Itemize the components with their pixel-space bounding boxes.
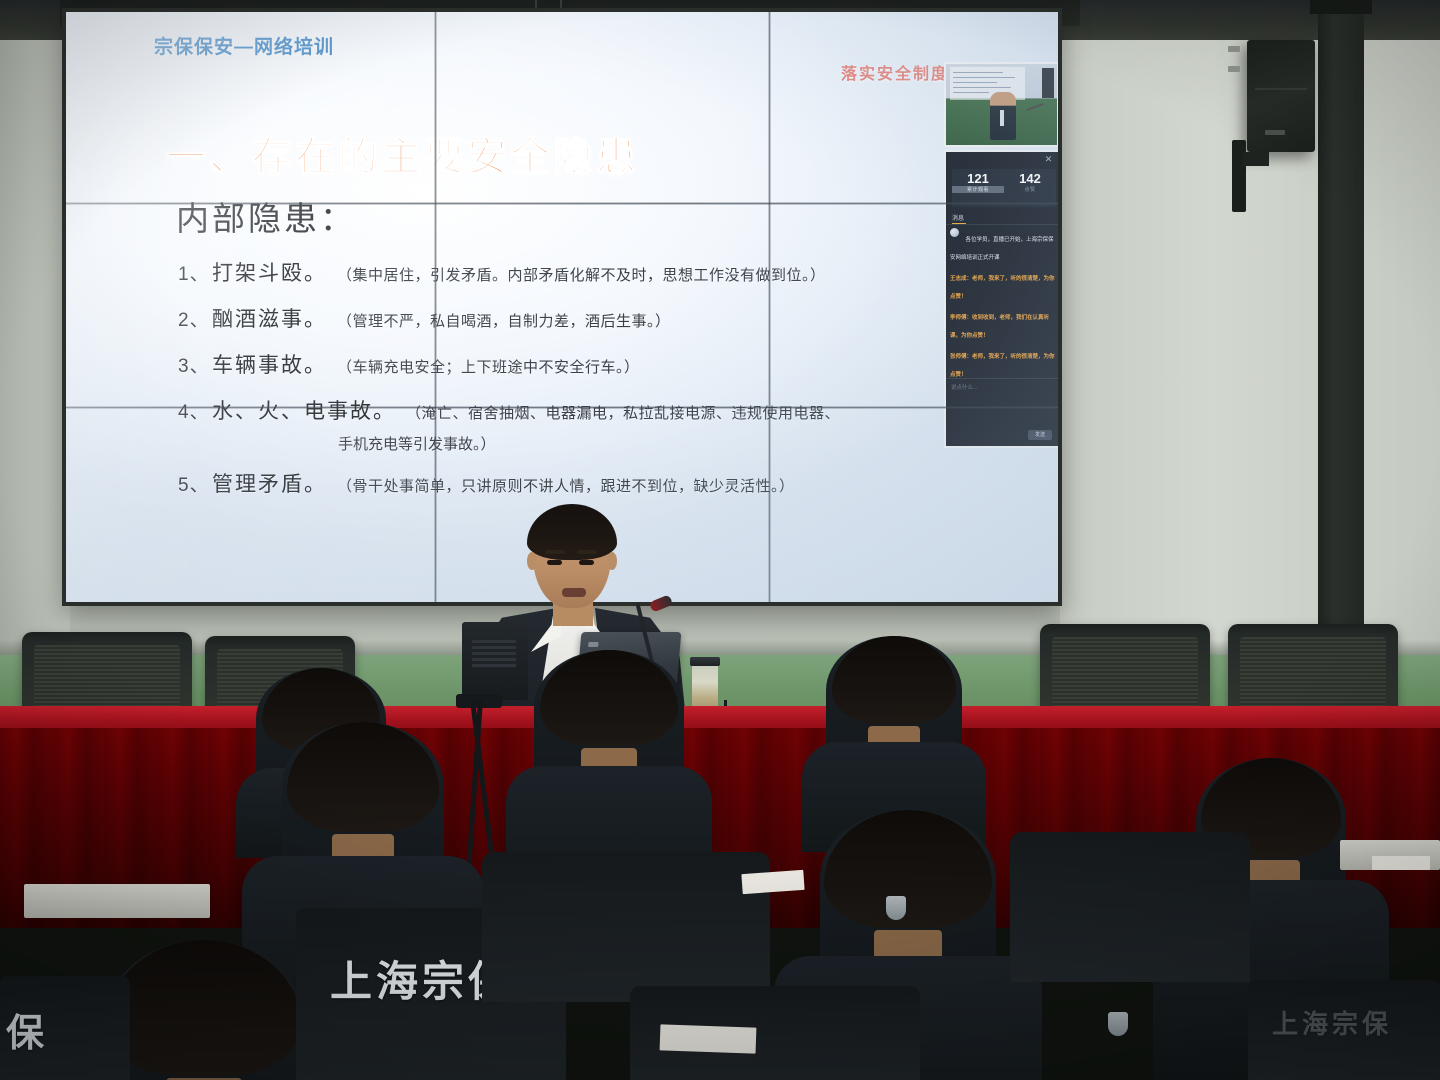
presenter-mouth bbox=[562, 588, 586, 597]
bullet-number: 3、 bbox=[178, 351, 212, 378]
presenter-eye-left bbox=[547, 560, 562, 565]
chair-back-row2-left bbox=[482, 852, 770, 1002]
presenter-ear-right bbox=[607, 552, 617, 570]
chat-message-text: 王志成：老师，我来了，听的很清楚，为你点赞！ bbox=[950, 276, 1055, 300]
remote-microphone-icon bbox=[1026, 103, 1044, 111]
wall-speaker-arm bbox=[1243, 152, 1269, 166]
wall-speaker-icon bbox=[1247, 40, 1315, 152]
list-item: 李师傅：收到收到，老师，我们在认真听课，为你点赞！ bbox=[950, 306, 1056, 342]
audience-member-2 bbox=[826, 636, 962, 796]
presenter-hair bbox=[527, 504, 617, 560]
chat-input-area[interactable]: 说点什么... 发送 bbox=[946, 378, 1058, 446]
audience-member-5 bbox=[282, 722, 444, 912]
chair-right-2 bbox=[1228, 624, 1398, 714]
slide-section-title: 一、存在的主要安全隐患 bbox=[166, 124, 639, 182]
bezel-seam-horizontal-1 bbox=[66, 202, 1058, 205]
bullet-number: 5、 bbox=[178, 470, 212, 497]
paper-sheet-2 bbox=[660, 1024, 757, 1053]
audience-member-6 bbox=[820, 810, 996, 1010]
room-pillar bbox=[1318, 0, 1364, 680]
list-item: 3、 车辆事故。 （车辆充电安全；上下班途中不安全行车。） bbox=[178, 349, 978, 379]
remote-video-feed[interactable] bbox=[944, 62, 1058, 147]
remote-presenter-tie bbox=[1000, 110, 1004, 126]
list-item: 王志成：老师，我来了，听的很清楚，为你点赞！ bbox=[950, 267, 1056, 303]
chat-tabbar[interactable]: 消息 bbox=[946, 212, 1058, 225]
tab-messages[interactable]: 消息 bbox=[952, 213, 964, 222]
bullet-note: （骨干处事简单，只讲原则不讲人情，跟进不到位，缺少灵活性。） bbox=[337, 475, 795, 496]
bezel-seam-horizontal-2 bbox=[66, 406, 1058, 409]
bullet-number: 4、 bbox=[178, 397, 212, 424]
chat-message-list[interactable]: 各位学员，直播已开始，上海宗保保安网络培训正式开课 王志成：老师，我来了，听的很… bbox=[950, 228, 1056, 378]
list-item: 5、 管理矛盾。 （骨干处事简单，只讲原则不讲人情，跟进不到位，缺少灵活性。） bbox=[178, 468, 978, 498]
uniform-shoulder-badge-1 bbox=[886, 896, 906, 920]
list-item: 2、 酗酒滋事。 （管理不严，私自喝酒，自制力差，酒后生事。） bbox=[178, 303, 978, 333]
list-item: 4、 水、火、电事故。 （淹亡、宿舍抽烟、电器漏电，私拉乱接电源、违规使用电器、 bbox=[178, 395, 978, 425]
remote-side-panel bbox=[1042, 68, 1054, 98]
bullet-main: 车辆事故。 bbox=[212, 349, 327, 379]
presenter-brow-right bbox=[577, 550, 597, 554]
presenter-ear-left bbox=[527, 552, 537, 570]
close-icon[interactable]: ✕ bbox=[1044, 155, 1053, 164]
bullet-main: 水、火、电事故。 bbox=[212, 395, 396, 425]
slide-header-title: 宗保保安—网络培训 bbox=[154, 32, 334, 59]
list-item: 张师傅：老师，我来了，听的很清楚，为你点赞！ bbox=[950, 345, 1056, 378]
tea-jar-lid bbox=[690, 657, 720, 666]
wall-speaker-bracket bbox=[1232, 140, 1246, 212]
chair-back-row2-right bbox=[1010, 832, 1250, 982]
wall-speaker-badge bbox=[1265, 130, 1285, 135]
send-button[interactable]: 发送 bbox=[1028, 430, 1052, 440]
chat-input-placeholder[interactable]: 说点什么... bbox=[951, 383, 978, 391]
wall-left-column bbox=[0, 0, 70, 660]
list-item: 1、 打架斗殴。 （集中居住，引发矛盾。内部矛盾化解不及时，思想工作没有做到位。… bbox=[178, 257, 978, 287]
paper-sheet-3 bbox=[1372, 856, 1430, 870]
slide-subtitle: 内部隐患： bbox=[176, 192, 356, 240]
bullet-note: （管理不严，私自喝酒，自制力差，酒后生事。） bbox=[337, 310, 671, 331]
bullet-number: 1、 bbox=[178, 259, 212, 286]
avatar bbox=[950, 228, 959, 237]
desk-surface-left bbox=[24, 884, 210, 918]
chair-right-1 bbox=[1040, 624, 1210, 714]
stat-likes-value: 142 bbox=[1004, 172, 1056, 186]
bullet-main: 管理矛盾。 bbox=[212, 468, 327, 498]
live-chat-panel[interactable]: ✕ 121 累计观看 142 点赞 消息 bbox=[944, 150, 1058, 448]
stat-viewers-label: 累计观看 bbox=[952, 186, 1004, 193]
slide-top-right-label: 落实安全制度 bbox=[841, 60, 949, 84]
chat-message-text: 张师傅：老师，我来了，听的很清楚，为你点赞！ bbox=[950, 354, 1055, 378]
list-item: 各位学员，直播已开始，上海宗保保安网络培训正式开课 bbox=[950, 228, 1056, 264]
chat-message-text: 各位学员，直播已开始，上海宗保保安网络培训正式开课 bbox=[950, 237, 1053, 261]
uniform-shoulder-badge-2 bbox=[1108, 1012, 1128, 1036]
bullet-main: 酗酒滋事。 bbox=[212, 303, 327, 333]
bezel-seam-vertical-2 bbox=[768, 12, 771, 602]
wall-speaker-seam bbox=[1255, 88, 1307, 90]
bullet-main: 打架斗殴。 bbox=[212, 257, 327, 287]
bullet-note: （集中居住，引发矛盾。内部矛盾化解不及时，思想工作没有做到位。） bbox=[337, 264, 826, 285]
presenter-brow-left bbox=[545, 550, 565, 554]
tab-active-indicator bbox=[952, 223, 966, 224]
wall-anchor-upper bbox=[1228, 46, 1240, 52]
audience-member-3 bbox=[534, 650, 684, 820]
stat-viewers-value: 121 bbox=[952, 172, 1004, 186]
photo-scene: 宗保保安—网络培训 落实安全制度 安全生产月活动方案 一、存在的主要安全隐患 内… bbox=[0, 0, 1440, 1080]
monitor-vent bbox=[472, 640, 516, 668]
bullet-number: 2、 bbox=[178, 305, 212, 332]
bezel-seam-vertical-1 bbox=[434, 12, 437, 602]
uniform-back-text-left: 保 bbox=[6, 1002, 48, 1057]
stat-likes-label: 点赞 bbox=[1004, 186, 1056, 193]
chat-message-text: 李师傅：收到收到，老师，我们在认真听课，为你点赞！ bbox=[950, 315, 1049, 339]
bullet-note: （车辆充电安全；上下班途中不安全行车。） bbox=[337, 356, 640, 377]
presenter-eye-right bbox=[579, 560, 594, 565]
slide-bullet-list: 1、 打架斗殴。 （集中居住，引发矛盾。内部矛盾化解不及时，思想工作没有做到位。… bbox=[178, 257, 978, 514]
wall-anchor-lower bbox=[1228, 66, 1240, 72]
uniform-back-text-right: 上海宗保 bbox=[1272, 1004, 1392, 1041]
room-pillar-cap bbox=[1310, 0, 1372, 14]
